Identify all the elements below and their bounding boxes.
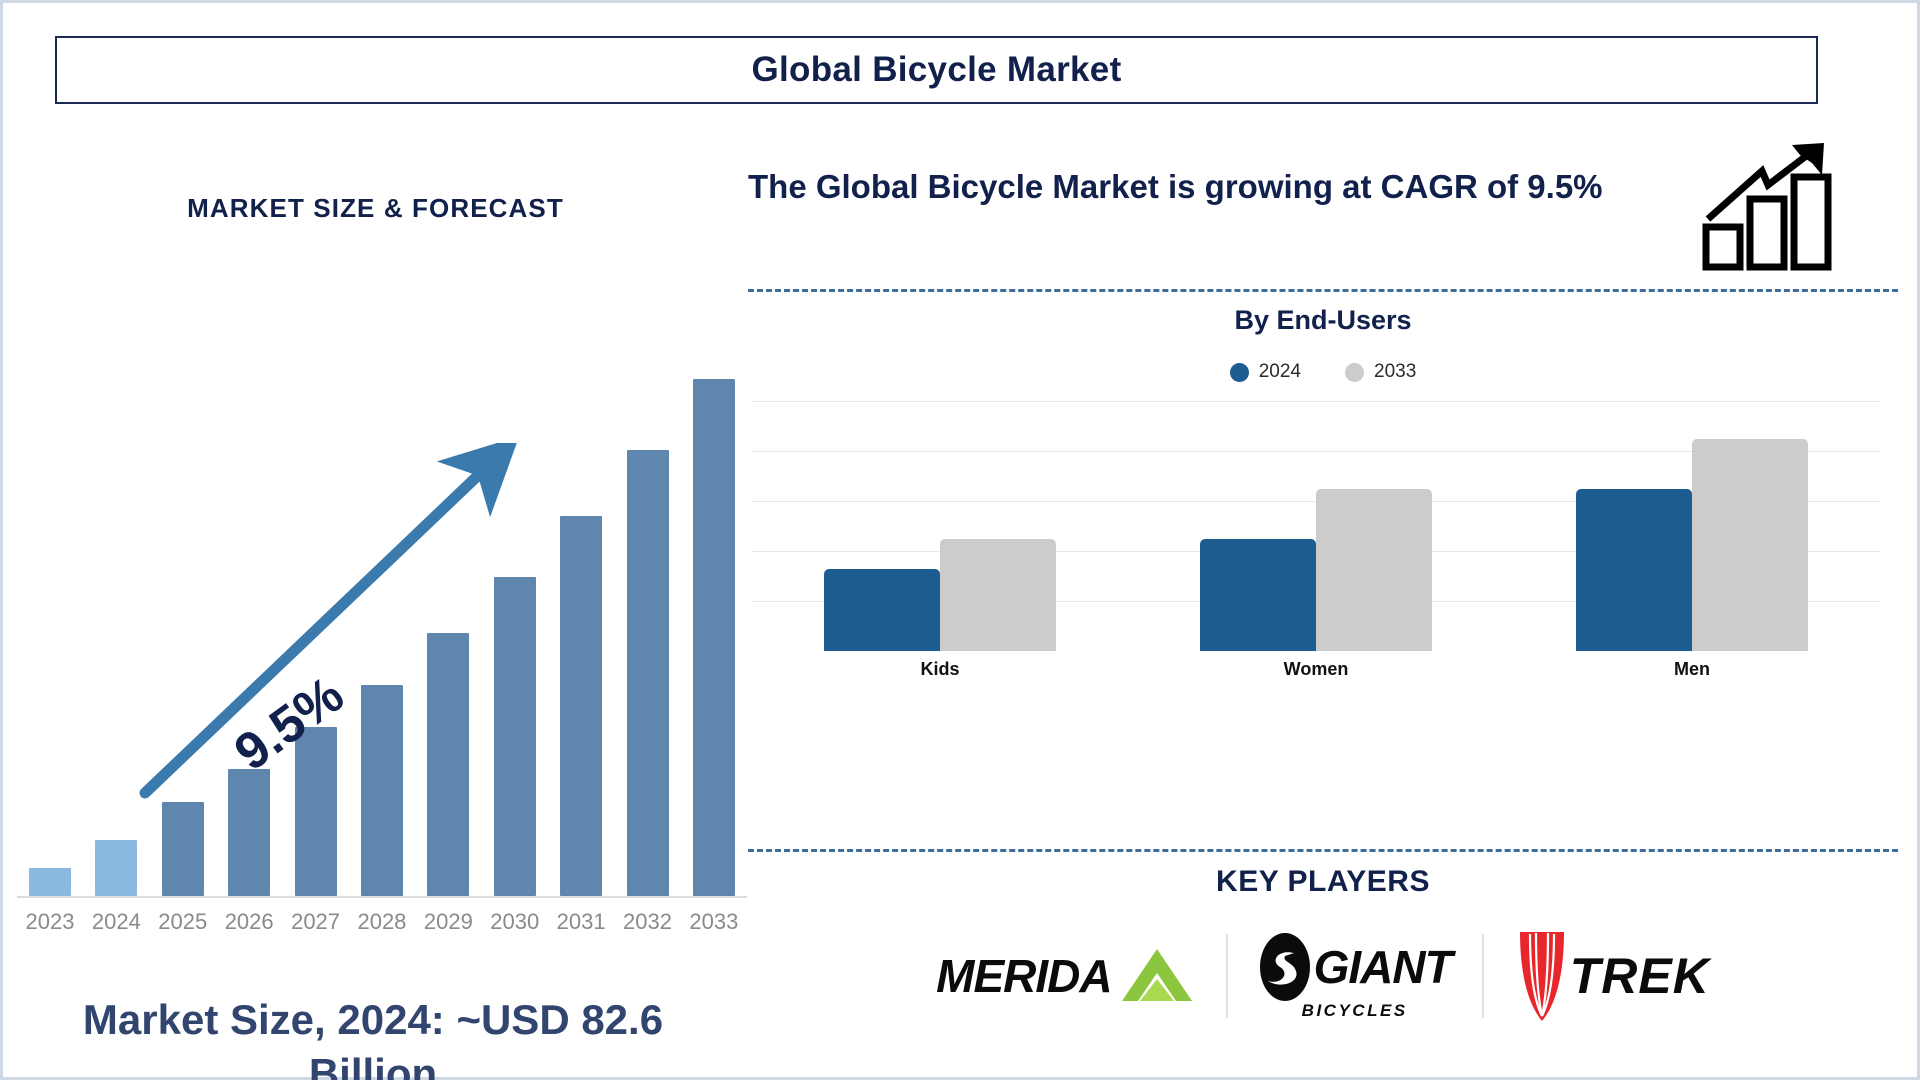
year-label: 2027: [283, 909, 349, 935]
bar: [427, 633, 469, 896]
left-panel: MARKET SIZE & FORECAST 20232024202520262…: [3, 113, 748, 1073]
end-users-category-labels: KidsWomenMen: [752, 659, 1880, 680]
bar-2033: [940, 539, 1056, 652]
merida-mountain-icon: [1118, 945, 1196, 1007]
forecast-bar-2033: [681, 379, 747, 896]
year-label: 2032: [615, 909, 681, 935]
trek-shield-icon: [1514, 928, 1570, 1024]
bar: [29, 868, 71, 896]
year-label: 2033: [681, 909, 747, 935]
forecast-bar-2023: [17, 868, 83, 896]
category-label: Women: [1200, 659, 1432, 680]
forecast-bar-2029: [415, 633, 481, 896]
right-panel: The Global Bicycle Market is growing at …: [748, 113, 1920, 1073]
page-title-box: Global Bicycle Market: [55, 36, 1818, 104]
year-label: 2030: [482, 909, 548, 935]
market-size-caption: Market Size, 2024: ~USD 82.6 Billion: [13, 993, 733, 1080]
bar: [494, 577, 536, 896]
merida-wordmark: MERIDA: [936, 949, 1111, 1003]
logo-merida: MERIDA: [936, 926, 1195, 1026]
bar: [361, 685, 403, 896]
bar: [560, 516, 602, 896]
market-size-heading: MARKET SIZE & FORECAST: [3, 193, 748, 224]
year-label: 2026: [216, 909, 282, 935]
bar: [95, 840, 137, 896]
logo-giant: GIANT BICYCLES: [1258, 926, 1452, 1026]
page-title: Global Bicycle Market: [751, 50, 1121, 90]
bar: [228, 769, 270, 896]
bar-2024: [1200, 539, 1316, 652]
bar-2024: [1576, 489, 1692, 652]
trek-wordmark: TREK: [1570, 947, 1710, 1005]
logo-divider-2: [1482, 934, 1484, 1018]
forecast-bar-row: [17, 356, 747, 896]
market-size-forecast-chart: 2023202420252026202720282029203020312032…: [17, 293, 747, 958]
bar-group-women: [1200, 401, 1432, 651]
key-players-title: KEY PLAYERS: [748, 865, 1898, 899]
forecast-bar-2032: [615, 450, 681, 896]
cagr-statement: The Global Bicycle Market is growing at …: [748, 165, 1628, 210]
legend-item-2024[interactable]: 2024: [1230, 361, 1301, 383]
bar-group-men: [1576, 401, 1808, 651]
year-label: 2023: [17, 909, 83, 935]
bar-group-kids: [824, 401, 1056, 651]
year-label: 2029: [415, 909, 481, 935]
forecast-bar-2031: [548, 516, 614, 896]
by-end-users-chart: [752, 401, 1880, 651]
forecast-bar-2026: [216, 769, 282, 896]
separator-top: [748, 289, 1898, 292]
logo-trek: TREK: [1514, 926, 1710, 1026]
giant-wordmark: GIANT: [1314, 940, 1452, 994]
legend-item-2033[interactable]: 2033: [1345, 361, 1416, 383]
separator-bottom: [748, 849, 1898, 852]
key-players-logos: MERIDA GIANT BICYCLES: [748, 921, 1898, 1031]
bar: [627, 450, 669, 896]
category-label: Kids: [824, 659, 1056, 680]
year-label: 2028: [349, 909, 415, 935]
bar: [162, 802, 204, 896]
forecast-bar-2024: [83, 840, 149, 896]
forecast-bar-2028: [349, 685, 415, 896]
category-label: Men: [1576, 659, 1808, 680]
bar-2024: [824, 569, 940, 652]
forecast-bar-2030: [482, 577, 548, 896]
year-label: 2025: [150, 909, 216, 935]
bar-chart-growth-icon: [1700, 141, 1835, 271]
end-users-legend: 20242033: [748, 361, 1898, 383]
infographic-root: Global Bicycle Market MARKET SIZE & FORE…: [0, 0, 1920, 1080]
bar-2033: [1316, 489, 1432, 652]
forecast-bar-2025: [150, 802, 216, 896]
giant-subtitle: BICYCLES: [1302, 1001, 1408, 1021]
year-label: 2024: [83, 909, 149, 935]
end-users-title: By End-Users: [748, 305, 1898, 336]
legend-dot-icon: [1230, 363, 1249, 382]
year-label: 2031: [548, 909, 614, 935]
forecast-axis-line: [17, 896, 747, 898]
forecast-year-labels: 2023202420252026202720282029203020312032…: [17, 902, 747, 942]
bar-2033: [1692, 439, 1808, 652]
legend-label: 2024: [1259, 361, 1301, 383]
legend-dot-icon: [1345, 363, 1364, 382]
bar: [693, 379, 735, 896]
giant-oval-icon: [1258, 931, 1312, 1003]
legend-label: 2033: [1374, 361, 1416, 383]
end-users-bar-groups: [752, 401, 1880, 651]
logo-divider-1: [1226, 934, 1228, 1018]
